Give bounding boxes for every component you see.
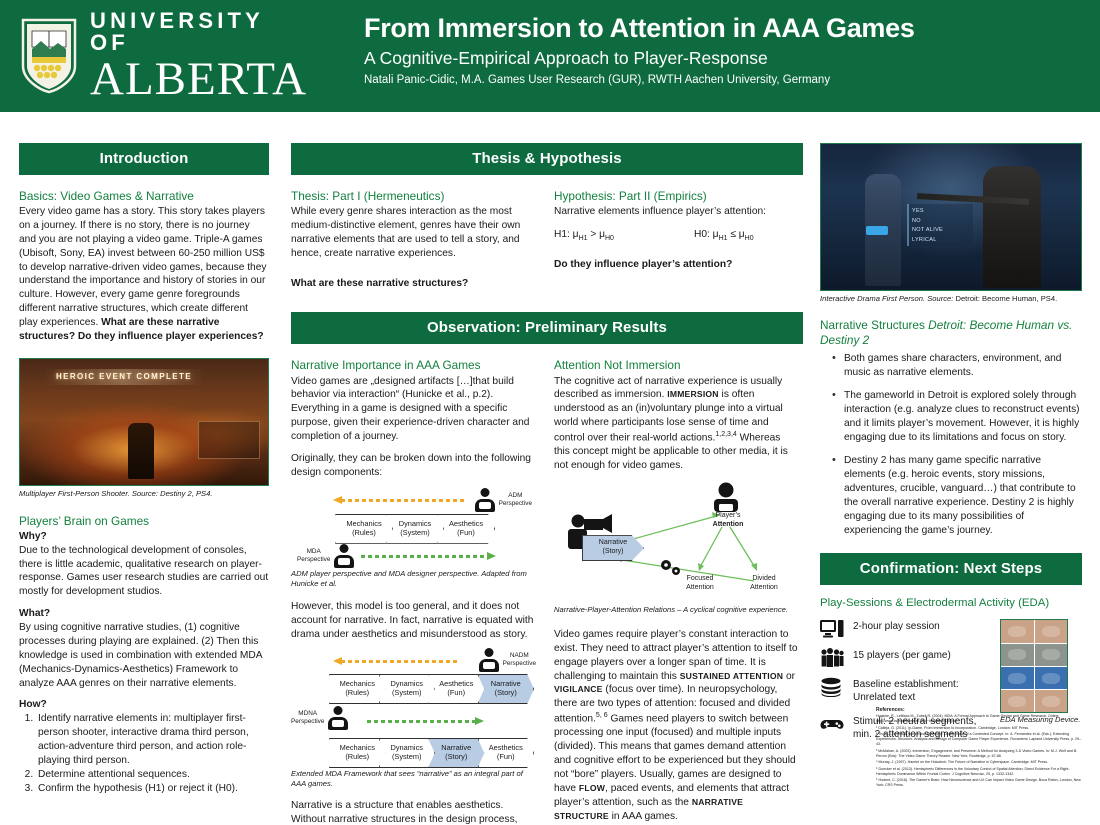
what-label: What?	[19, 607, 269, 621]
subheading-thesis-part1: Thesis: Part I (Hermeneutics)	[291, 189, 536, 204]
how-list: Identify narrative elements in: multipla…	[19, 712, 269, 795]
confirmation-item: Baseline establishment: Unrelated text	[820, 677, 990, 705]
nadm-arrow-icon	[333, 658, 466, 664]
adm-perspective-label: ADM Perspective	[499, 492, 532, 508]
menu-option: NOT ALIVE	[912, 226, 970, 236]
subheading-brain: Players’ Brain on Games	[19, 514, 269, 529]
mda-cell-dynamics: Dynamics (System)	[386, 514, 444, 544]
thesis-part1-body: While every genre shares interaction as …	[291, 205, 536, 261]
thesis-part2-body: Narrative elements influence player’s at…	[554, 205, 799, 219]
poster-root: UNIVERSITY OF ALBERTA From Immersion to …	[0, 0, 1100, 825]
reference-item: ⁵ Duecker et al. (2013). Hemispheric Dif…	[876, 767, 1086, 777]
subheading-thesis-part2: Hypothesis: Part II (Empirics)	[554, 189, 799, 204]
narrative-importance-body2: Originally, they can be broken down into…	[291, 452, 536, 480]
eda-device-image	[1000, 619, 1068, 713]
narrative-importance-body: Video games are „designed artifacts […]t…	[291, 375, 536, 444]
mdna-cell-dynamics: Dynamics (System)	[379, 738, 436, 768]
author-line: Natali Panic-Cidic, M.A. Games User Rese…	[364, 74, 1084, 88]
list-item: Confirm the hypothesis (H1) or reject it…	[36, 782, 269, 796]
mda-caption: ADM player perspective and MDA designer …	[291, 569, 536, 589]
subheading-basics: Basics: Video Games & Narrative	[19, 189, 269, 204]
confirmation-item: 15 players (per game)	[820, 648, 990, 668]
reference-item: ³ McMahan, A. (2003). Immersion, Engagem…	[876, 749, 1086, 759]
thesis-part1: Thesis: Part I (Hermeneutics) While ever…	[291, 189, 536, 298]
destiny-character	[128, 423, 154, 479]
reference-item: ¹ Calleja, G. (2011). In-Game. From Imme…	[876, 726, 1086, 731]
mdna-perspective-label: MDNA Perspective	[291, 710, 324, 726]
references-title: References:	[876, 707, 1086, 713]
eda-cell	[1001, 620, 1034, 642]
subheading-narrative-structures: Narrative Structures Detroit: Become Hum…	[820, 318, 1082, 348]
confirmation-item-label: Baseline establishment: Unrelated text	[853, 677, 990, 705]
detroit-dialogue-menu: YES NO NOT ALIVE LYRICAL	[907, 204, 973, 246]
menu-option: LYRICAL	[912, 236, 970, 246]
mda-cell-mechanics: Mechanics (Rules)	[335, 514, 393, 544]
paragraph-basics: Every video game has a story. This story…	[19, 205, 269, 344]
university-logo: UNIVERSITY OF ALBERTA	[20, 12, 305, 100]
mdna-arrow-icon	[359, 718, 484, 724]
references-block: References: Hunicke, R., LeBlanc M., Zub…	[876, 707, 1086, 790]
mda-person-icon	[334, 544, 354, 568]
hypothesis-h1: H1: μH1 > μH0	[554, 229, 694, 242]
eda-cell	[1035, 667, 1068, 689]
mda-diagram: ADM Perspective Mechanics (Rules) Dynami…	[291, 488, 536, 566]
reference-item: ⁴ Murray, J. (1997). Hamlet on the Holod…	[876, 760, 1086, 765]
mdna-cell-mechanics: Mechanics (Rules)	[329, 738, 386, 768]
page-subtitle: A Cognitive-Empirical Approach to Player…	[364, 48, 1084, 69]
attention-paragraph-2: Video games require player’s constant in…	[554, 628, 799, 824]
too-general-body: However, this model is too general, and …	[291, 600, 536, 642]
detroit-screenshot: YES NO NOT ALIVE LYRICAL	[820, 143, 1082, 291]
mda-arrow-icon	[353, 553, 496, 559]
subheading-eda: Play-Sessions & Electrodermal Activity (…	[820, 596, 1082, 611]
observation-closing-body: Narrative is a structure that enables ae…	[291, 799, 536, 825]
list-item: The gameworld in Detroit is explored sol…	[834, 389, 1082, 445]
nadm-cell-dynamics: Dynamics (System)	[379, 674, 436, 704]
nadm-cell-aesthetics: Aesthetics (Fun)	[428, 674, 485, 704]
mdna-diagram: MDNA Perspective Mechanics (Rules)	[291, 704, 536, 766]
section-header-observation: Observation: Preliminary Results	[291, 312, 803, 344]
nadm-perspective-label: NADM Perspective	[503, 652, 536, 668]
reference-item: ⁶ Hodent, C. (2018). The Gamer’s Brain: …	[876, 778, 1086, 788]
mdna-person-icon	[328, 706, 348, 730]
focused-attention-label: Focused Attention	[672, 575, 728, 593]
nadm-cell-narrative: Narrative (Story)	[478, 674, 535, 704]
nadm-cell-mechanics: Mechanics (Rules)	[329, 674, 386, 704]
list-item: Determine attentional sequences.	[36, 768, 269, 782]
thesis-part1-question: What are these narrative structures?	[291, 277, 536, 291]
poster-header: UNIVERSITY OF ALBERTA From Immersion to …	[0, 0, 1100, 112]
section-header-thesis: Thesis & Hypothesis	[291, 143, 803, 175]
thesis-part2: Hypothesis: Part II (Empirics) Narrative…	[554, 189, 799, 298]
player-attention-label: Player’s Attention	[700, 512, 756, 530]
mda-perspective-label: MDA Perspective	[297, 548, 330, 564]
monitor-icon	[820, 619, 844, 639]
confirmation-item-label: 15 players (per game)	[853, 648, 951, 663]
title-block: From Immersion to Attention in AAA Games…	[364, 13, 1084, 88]
detroit-android-figure	[865, 174, 901, 286]
detroit-human-figure	[983, 166, 1041, 288]
narrative-structures-bullets: Both games share characters, environment…	[820, 352, 1082, 538]
attention-diagram: Player’s Attention Narrative (Story) Foc…	[554, 481, 804, 597]
destiny-hud-label: HEROIC EVENT COMPLETE	[44, 369, 204, 385]
section-header-introduction: Introduction	[19, 143, 269, 175]
hypothesis-h0: H0: μH1 ≤ μH0	[694, 229, 754, 242]
menu-option: NO	[912, 217, 970, 227]
adm-person-icon	[475, 488, 495, 512]
books-icon	[820, 677, 844, 697]
eda-cell	[1035, 620, 1068, 642]
people-icon	[820, 648, 844, 668]
why-body: Due to the technological development of …	[19, 544, 269, 600]
mda-cell-aesthetics: Aesthetics (Fun)	[437, 514, 495, 544]
eda-cell	[1035, 644, 1068, 666]
subheading-narrative-importance: Narrative Importance in AAA Games	[291, 358, 536, 373]
column-middle: Thesis & Hypothesis Thesis: Part I (Herm…	[291, 143, 803, 825]
attention-diagram-caption: Narrative-Player-Attention Relations – A…	[554, 605, 799, 615]
list-item: Identify narrative elements in: multipla…	[36, 712, 269, 768]
confirmation-item-label: 2-hour play session	[853, 619, 940, 634]
section-header-confirmation: Confirmation: Next Steps	[820, 553, 1082, 585]
observation-right: Attention Not Immersion The cognitive ac…	[554, 358, 799, 825]
reference-item: Hunicke, R., LeBlanc M., Zubek R. (2004)…	[876, 714, 1086, 724]
attention-body: The cognitive act of narrative experienc…	[554, 375, 799, 474]
what-body: By using cognitive narrative studies, (1…	[19, 621, 269, 690]
eda-cell	[1001, 667, 1034, 689]
gamepad-icon	[820, 714, 844, 734]
column-right: YES NO NOT ALIVE LYRICAL Interactive Dra…	[820, 143, 1082, 750]
basics-text: Every video game has a story. This story…	[19, 206, 266, 328]
destiny-caption: Multiplayer First-Person Shooter. Source…	[19, 489, 269, 499]
reference-item: ² Thon, J.-N. (2008). Immersion Revisite…	[876, 732, 1086, 747]
confirmation-item: 2-hour play session	[820, 619, 990, 639]
column-introduction: Introduction Basics: Video Games & Narra…	[19, 143, 269, 796]
menu-option: YES	[912, 207, 970, 217]
eda-cell	[1001, 644, 1034, 666]
mdna-cell-narrative: Narrative (Story)	[428, 738, 485, 768]
thesis-part2-question: Do they influence player’s attention?	[554, 258, 799, 272]
narrative-story-node: Narrative (Story)	[582, 535, 644, 561]
destiny-hud-panel	[198, 421, 260, 459]
list-item: Destiny 2 has many game specific narrati…	[834, 454, 1082, 538]
nadm-person-icon	[479, 648, 499, 672]
mdna-cell-aesthetics: Aesthetics (Fun)	[478, 738, 535, 768]
divided-attention-label: Divided Attention	[736, 575, 792, 593]
logo-alberta-text: ALBERTA	[90, 56, 307, 103]
observation-left: Narrative Importance in AAA Games Video …	[291, 358, 536, 825]
logo-university-text: UNIVERSITY OF	[90, 10, 307, 54]
detroit-caption: Interactive Drama First Person. Source: …	[820, 294, 1082, 304]
why-label: Why?	[19, 530, 269, 544]
destiny-screenshot: HEROIC EVENT COMPLETE	[19, 358, 269, 486]
adm-arrow-icon	[333, 497, 474, 503]
shield-icon	[20, 17, 78, 95]
how-label: How?	[19, 698, 269, 712]
list-item: Both games share characters, environment…	[834, 352, 1082, 380]
page-title: From Immersion to Attention in AAA Games	[364, 13, 1084, 44]
extended-mda-caption: Extended MDA Framework that sees “narrat…	[291, 769, 536, 789]
subheading-attention: Attention Not Immersion	[554, 358, 799, 373]
nadm-diagram: NADM Perspective Mechanics (Rules) Dynam…	[291, 650, 536, 700]
